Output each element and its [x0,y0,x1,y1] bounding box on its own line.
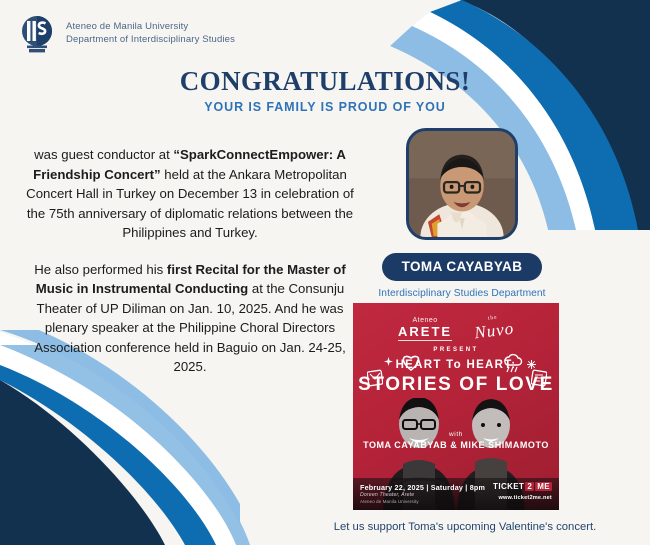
org-header: Ateneo de Manila University Department o… [18,14,235,54]
poster-university: Ateneo de Manila University [360,499,419,504]
p1-part-a: was guest conductor at [34,147,173,162]
header-university: Ateneo de Manila University [66,21,235,34]
p2-part-a: He also performed his [34,262,167,277]
poster-with-label: with [353,431,559,438]
arete-crown-icon: Ateneo [398,317,452,324]
header-department: Department of Interdisciplinary Studies [66,34,235,47]
honoree-column: TOMA CAYABYAB Interdisciplinary Studies … [356,128,568,299]
arete-logo: Ateneo ARETE [398,317,452,341]
poster-date: February 22, 2025 | Saturday | 8pm [360,483,485,492]
poster-stories-of-love-title: STORIES OF LOVE [353,374,559,396]
achievement-paragraph-2: He also performed his first Recital for … [24,260,356,377]
congratulations-title: CONGRATULATIONS! [0,66,650,97]
congratulations-subtitle: YOUR IS FAMILY IS PROUD OF YOU [0,100,650,114]
ids-seal-icon [18,14,56,54]
congratulations-block: CONGRATULATIONS! YOUR IS FAMILY IS PROUD… [0,66,650,114]
poster-performers-names: TOMA CAYABYAB & MIKE SHIMAMOTO [353,440,559,450]
nuvo-logo: the Nuvo [473,313,516,344]
poster-footer-bar: February 22, 2025 | Saturday | 8pm Doree… [353,478,559,510]
closing-caption: Let us support Toma's upcoming Valentine… [300,521,630,533]
nuvo-wordmark: Nuvo [473,319,515,343]
ticket2me-part-2: 2 [525,482,534,491]
honoree-department-label: Interdisciplinary Studies Department [356,288,568,299]
poster-heart-to-heart-title: HEART To HEART: [353,359,559,371]
arete-wordmark: ARETE [398,324,452,341]
ticket2me-part-1: TICKET [493,482,524,491]
poster-present-label: PRESENT [353,347,559,353]
status-badge: TOMA CAYABYAB [382,253,543,281]
honoree-portrait-image [409,131,515,237]
achievement-paragraph-1: was guest conductor at “SparkConnectEmpo… [24,145,356,243]
congratulations-poster: Ateneo de Manila University Department o… [0,0,650,545]
poster-brand-row: Ateneo ARETE the Nuvo [353,315,559,341]
concert-poster-image: Ateneo ARETE the Nuvo PRESENT [353,303,559,510]
avatar [406,128,518,240]
ticket2me-part-3: ME [535,482,552,491]
ticket2me-logo: TICKET 2 ME [493,482,552,491]
poster-venue: Doreen Theater, Arete [360,492,414,498]
ticket2me-url: www.ticket2me.net [498,495,552,501]
achievement-body-text: was guest conductor at “SparkConnectEmpo… [24,145,356,377]
